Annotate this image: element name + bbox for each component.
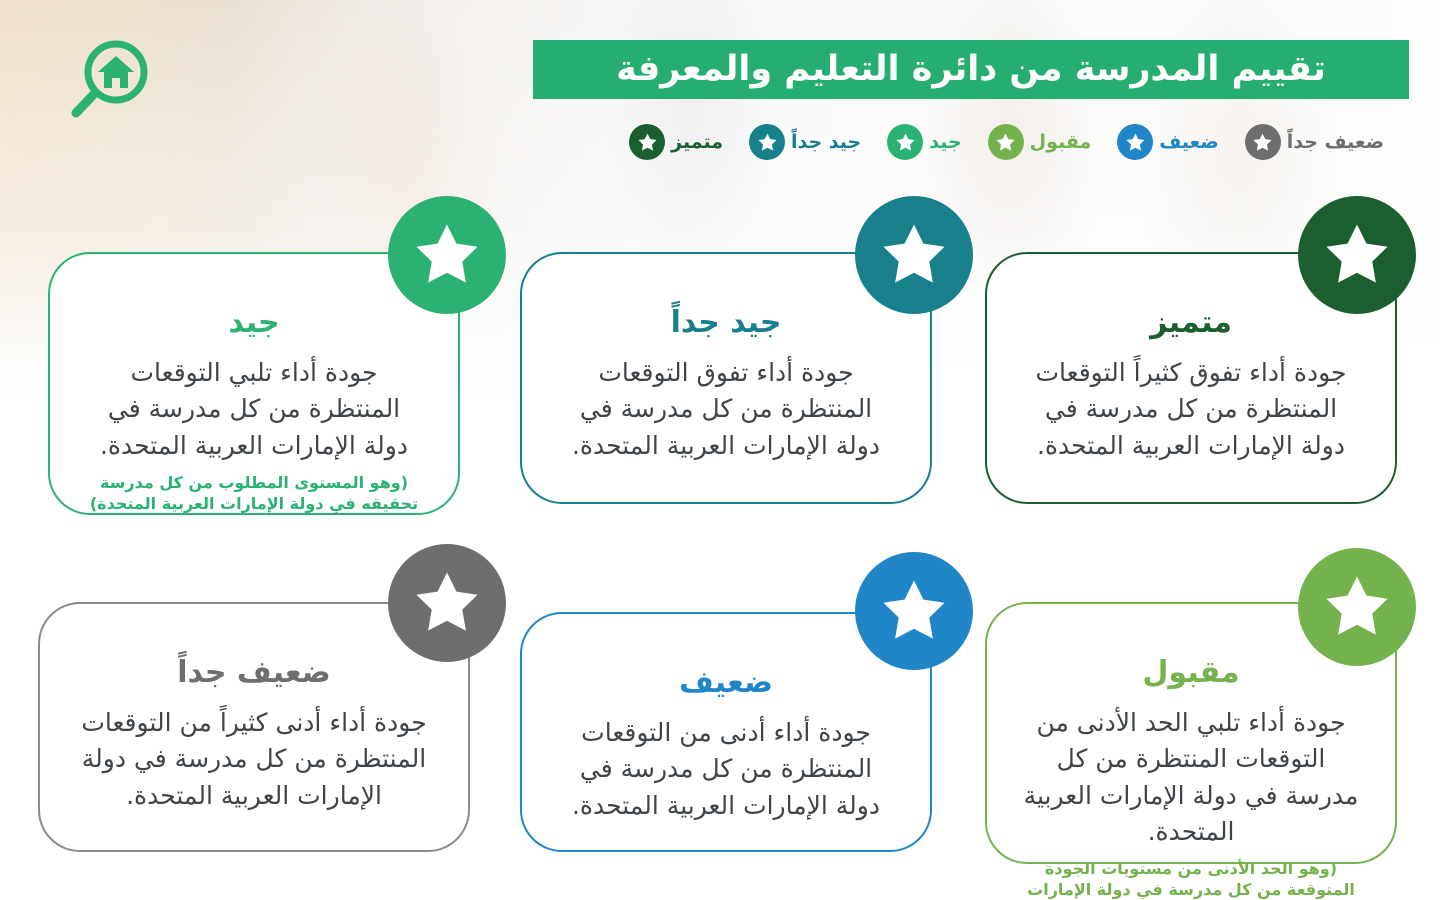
star-icon [388,544,506,662]
star-icon [1245,124,1281,160]
card-title: ضعيف [679,666,773,699]
card-title: ضعيف جداً [177,656,331,689]
star-icon [887,124,923,160]
star-icon [1298,196,1416,314]
legend-item-daif[interactable]: ضعيف [1117,124,1218,160]
card-title: جيد [228,306,279,339]
star-icon [988,124,1024,160]
infographic-root: تقييم المدرسة من دائرة التعليم والمعرفة … [0,0,1440,900]
legend-label: مقبول [1030,131,1092,153]
legend-label: ضعيف جداً [1287,131,1384,153]
star-icon [855,196,973,314]
legend-label: متميز [671,131,723,153]
rating-legend: ضعيف جداً ضعيف مقبول جيد جيد جداً [629,124,1384,160]
card-body: جودة أداء أدنى من التوقعات المنتظرة من ك… [556,715,896,824]
card-note: (وهو الحد الأدنى من مستويات الجودة المتو… [1021,858,1361,900]
magnifier-house-logo [60,36,156,126]
card-note: (وهو المستوى المطلوب من كل مدرسة تحقيقه … [84,472,424,514]
card-body: جودة أداء تلبي الحد الأدنى من التوقعات ا… [1021,705,1361,850]
star-icon [388,196,506,314]
card-title: مقبول [1142,656,1239,689]
card-body: جودة أداء تلبي التوقعات المنتظرة من كل م… [84,355,424,464]
star-icon [855,552,973,670]
legend-item-jayyid-jidan[interactable]: جيد جداً [749,124,861,160]
rating-card-jayyid: جيد جودة أداء تلبي التوقعات المنتظرة من … [48,252,460,515]
legend-label: جيد جداً [791,131,861,153]
star-icon [1298,548,1416,666]
star-icon [749,124,785,160]
legend-item-daif-jidan[interactable]: ضعيف جداً [1245,124,1384,160]
legend-label: ضعيف [1159,131,1218,153]
star-icon [629,124,665,160]
star-icon [1117,124,1153,160]
page-title: تقييم المدرسة من دائرة التعليم والمعرفة [616,52,1326,87]
card-body: جودة أداء أدنى كثيراً من التوقعات المنتظ… [74,705,434,814]
legend-item-maqbul[interactable]: مقبول [988,124,1092,160]
card-title: جيد جداً [671,306,782,339]
card-title: متميز [1150,306,1232,339]
card-body: جودة أداء تفوق كثيراً التوقعات المنتظرة … [1021,355,1361,464]
legend-item-mumtaz[interactable]: متميز [629,124,723,160]
legend-item-jayyid[interactable]: جيد [887,124,961,160]
page-title-bar: تقييم المدرسة من دائرة التعليم والمعرفة [533,40,1409,99]
legend-label: جيد [929,131,961,153]
card-body: جودة أداء تفوق التوقعات المنتظرة من كل م… [556,355,896,464]
